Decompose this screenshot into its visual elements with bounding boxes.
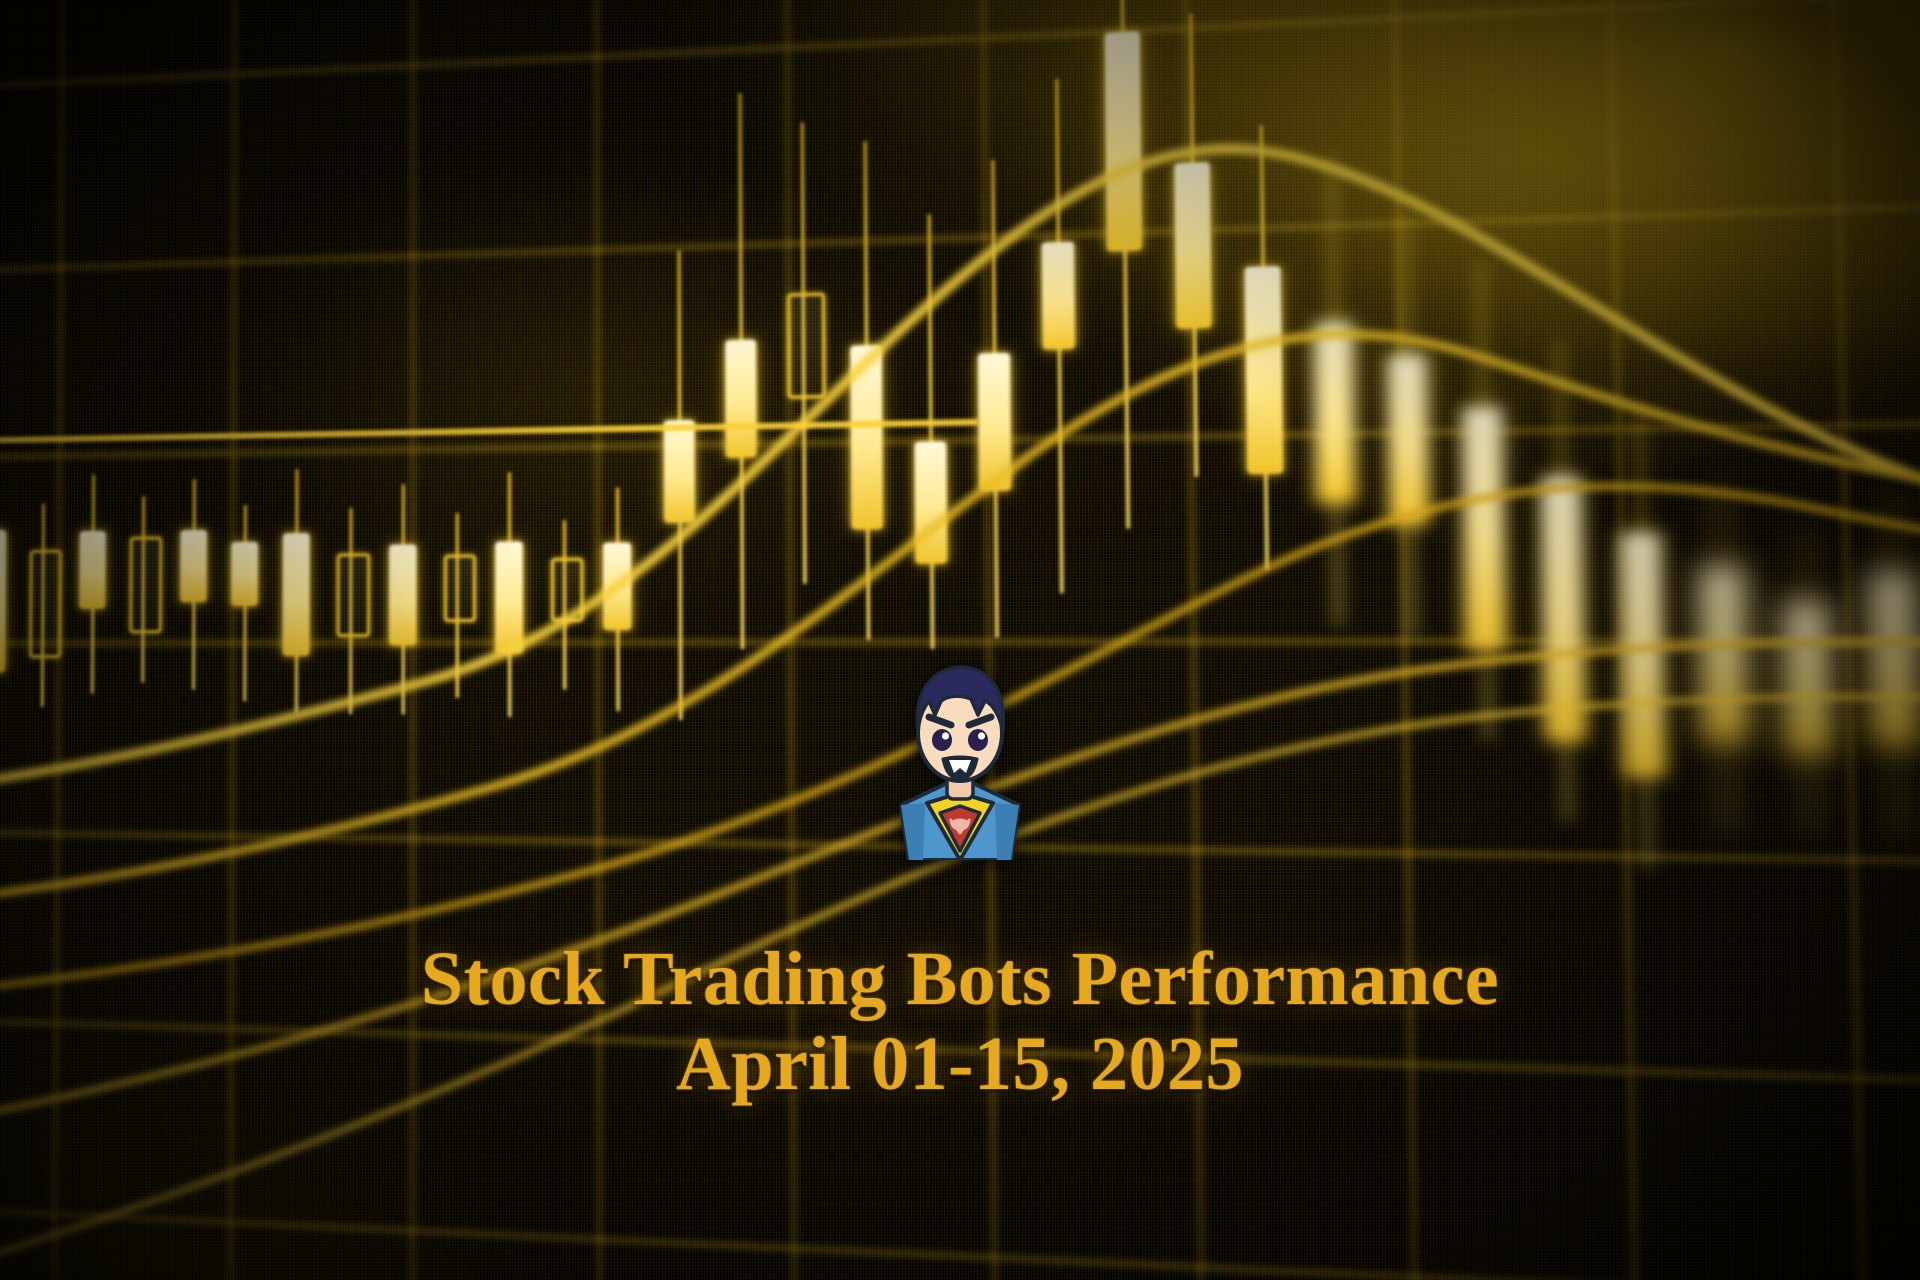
mascot-head-icon xyxy=(917,667,1003,781)
page-subtitle-date-range: April 01-15, 2025 xyxy=(0,1025,1920,1104)
trading-bot-mascot xyxy=(885,655,1035,860)
banner-canvas: Stock Trading Bots Performance April 01-… xyxy=(0,0,1920,1280)
banner-title-block: Stock Trading Bots Performance April 01-… xyxy=(0,940,1920,1104)
page-title: Stock Trading Bots Performance xyxy=(0,940,1920,1019)
